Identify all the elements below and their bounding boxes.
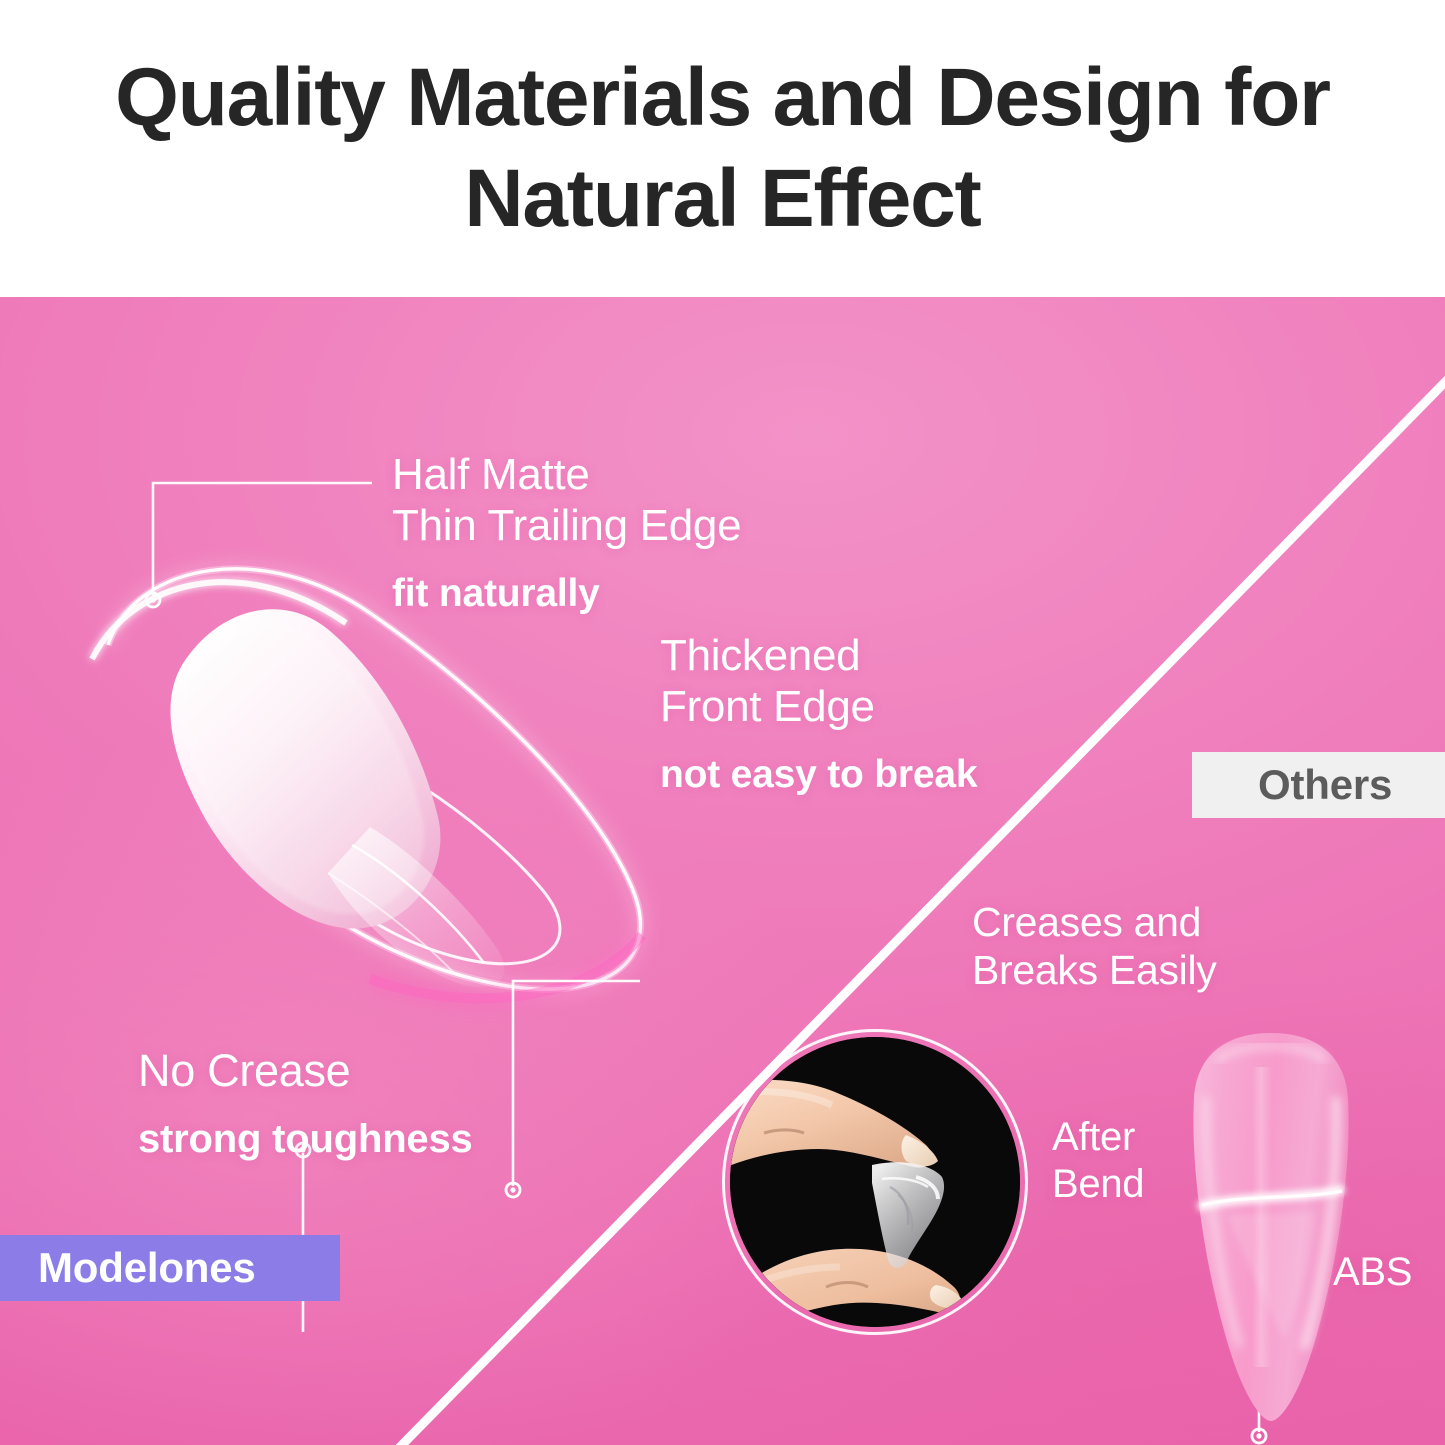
callout-after-bend-lead: After Bend — [1052, 1114, 1144, 1208]
bend-test-photo-art — [730, 1037, 1020, 1327]
badge-others: Others — [1192, 752, 1445, 818]
callout-no-crease-lead: No Crease — [138, 1045, 473, 1097]
page-title: Quality Materials and Design for Natural… — [90, 48, 1355, 248]
callout-half-matte-lead: Half Matte Thin Trailing Edge — [392, 449, 741, 551]
callout-half-matte-sub: fit naturally — [392, 571, 741, 618]
callout-thickened-front-edge: Thickened Front Edge not easy to break — [660, 630, 977, 799]
callout-abs-lead: ABS — [1333, 1249, 1412, 1295]
callout-creases-lead: Creases and Breaks Easily — [972, 899, 1216, 995]
callout-after-bend: After Bend — [1052, 1114, 1144, 1208]
callout-abs-material: ABS — [1333, 1249, 1412, 1295]
bend-test-photo — [730, 1037, 1020, 1327]
badge-others-label: Others — [1258, 761, 1392, 809]
header-band: Quality Materials and Design for Natural… — [0, 0, 1445, 297]
callout-thickened-lead: Thickened Front Edge — [660, 630, 977, 732]
callout-creases-breaks: Creases and Breaks Easily — [972, 899, 1216, 995]
badge-modelones: Modelones — [0, 1235, 340, 1301]
callout-half-matte: Half Matte Thin Trailing Edge fit natura… — [392, 449, 741, 618]
abs-nail-illustration — [1176, 1027, 1366, 1427]
callout-no-crease-sub: strong toughness — [138, 1115, 473, 1163]
badge-modelones-label: Modelones — [38, 1244, 256, 1292]
comparison-panel: Half Matte Thin Trailing Edge fit natura… — [0, 297, 1445, 1445]
callout-no-crease: No Crease strong toughness — [138, 1045, 473, 1163]
callout-thickened-sub: not easy to break — [660, 752, 977, 799]
product-infographic-poster: Quality Materials and Design for Natural… — [0, 0, 1445, 1445]
